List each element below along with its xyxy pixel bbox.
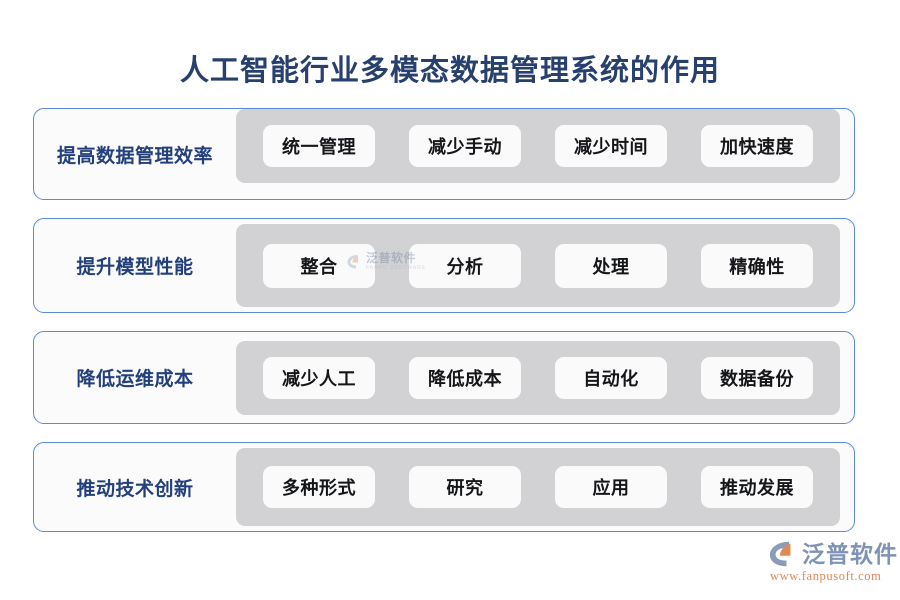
fanpu-logo-icon	[768, 540, 798, 568]
tag-item[interactable]: 整合	[263, 244, 375, 288]
brand-logo-top: 泛普软件	[768, 540, 898, 568]
card-row-3[interactable]: 降低运维成本 减少人工 降低成本 自动化 数据备份	[33, 331, 855, 424]
tag-item[interactable]: 精确性	[701, 244, 813, 288]
tag-item[interactable]: 加快速度	[701, 125, 813, 167]
card-row-2-label: 提升模型性能	[34, 219, 236, 312]
brand-logo: 泛普软件 www.fanpusoft.com	[768, 540, 898, 584]
tag-item[interactable]: 处理	[555, 244, 667, 288]
tag-item[interactable]: 减少手动	[409, 125, 521, 167]
card-row-2-tag-panel: 整合 分析 处理 精确性	[236, 224, 840, 307]
tag-item[interactable]: 数据备份	[701, 357, 813, 399]
brand-logo-text: 泛普软件	[802, 541, 898, 567]
card-row-2[interactable]: 提升模型性能 整合 分析 处理 精确性 泛普软件 FANPU SOFTWARE	[33, 218, 855, 313]
tag-item[interactable]: 应用	[555, 466, 667, 508]
page-title: 人工智能行业多模态数据管理系统的作用	[0, 52, 900, 90]
tag-item[interactable]: 降低成本	[409, 357, 521, 399]
tag-item[interactable]: 减少人工	[263, 357, 375, 399]
tag-item[interactable]: 统一管理	[263, 125, 375, 167]
tag-item[interactable]: 自动化	[555, 357, 667, 399]
card-row-4-label: 推动技术创新	[34, 443, 236, 531]
tag-item[interactable]: 推动发展	[701, 466, 813, 508]
infographic-page: 人工智能行业多模态数据管理系统的作用 提高数据管理效率 统一管理 减少手动 减少…	[0, 0, 900, 600]
tag-item[interactable]: 减少时间	[555, 125, 667, 167]
card-row-1-label: 提高数据管理效率	[34, 109, 236, 199]
card-row-1-tag-panel: 统一管理 减少手动 减少时间 加快速度	[236, 109, 840, 183]
card-row-3-label: 降低运维成本	[34, 332, 236, 423]
tag-item[interactable]: 分析	[409, 244, 521, 288]
card-row-4[interactable]: 推动技术创新 多种形式 研究 应用 推动发展	[33, 442, 855, 532]
card-row-3-tag-panel: 减少人工 降低成本 自动化 数据备份	[236, 341, 840, 415]
tag-item[interactable]: 多种形式	[263, 466, 375, 508]
card-row-1[interactable]: 提高数据管理效率 统一管理 减少手动 减少时间 加快速度	[33, 108, 855, 200]
tag-item[interactable]: 研究	[409, 466, 521, 508]
card-row-4-tag-panel: 多种形式 研究 应用 推动发展	[236, 448, 840, 526]
brand-logo-url: www.fanpusoft.com	[770, 569, 881, 584]
card-list: 提高数据管理效率 统一管理 减少手动 减少时间 加快速度 提升模型性能 整合 分…	[33, 108, 855, 532]
